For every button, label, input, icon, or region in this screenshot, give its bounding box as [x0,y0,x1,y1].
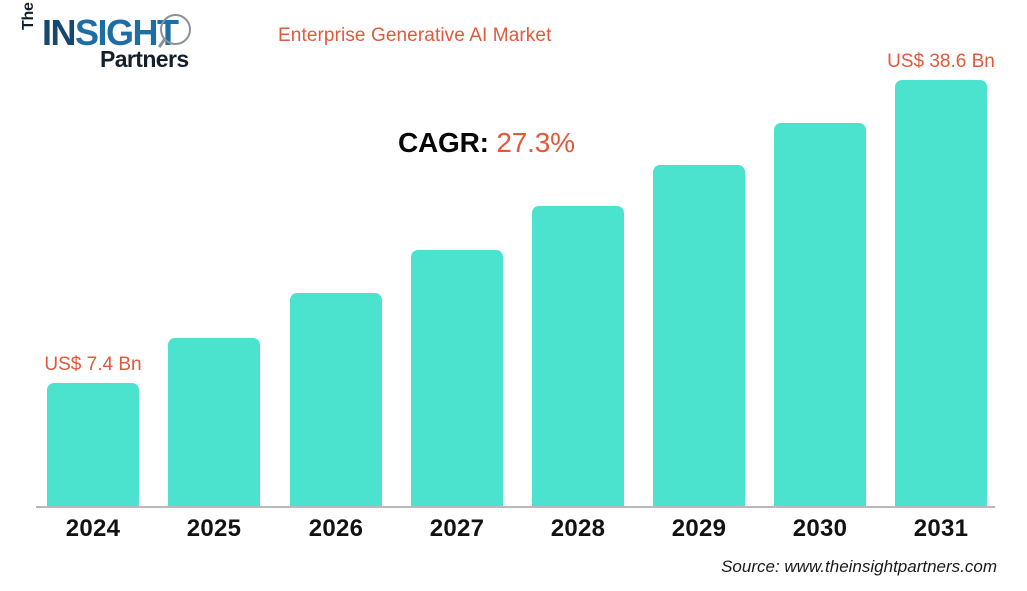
bar-2026 [290,293,382,507]
bar-2029 [653,165,745,507]
value-label-2024: US$ 7.4 Bn [0,354,187,376]
x-tick-label-2030: 2030 [774,515,866,543]
x-tick-label-2024: 2024 [47,515,139,543]
source-caption: Source: www.theinsightpartners.com [721,557,997,577]
value-label-2031: US$ 38.6 Bn [847,51,1027,73]
x-tick-label-2026: 2026 [290,515,382,543]
chart-page: The INSIGHT Partners Enterprise Generati… [0,0,1027,591]
bar-chart-plot-area: US$ 7.4 BnUS$ 38.6 Bn 202420252026202720… [0,0,1027,591]
x-tick-label-2031: 2031 [895,515,987,543]
x-axis-line [36,506,995,508]
bar-2025 [168,338,260,507]
bar-2027 [411,250,503,507]
bar-2024 [47,383,139,507]
x-tick-label-2025: 2025 [168,515,260,543]
x-tick-label-2027: 2027 [411,515,503,543]
x-tick-label-2029: 2029 [653,515,745,543]
bar-2031 [895,80,987,507]
bar-2028 [532,206,624,507]
bar-2030 [774,123,866,507]
x-tick-label-2028: 2028 [532,515,624,543]
